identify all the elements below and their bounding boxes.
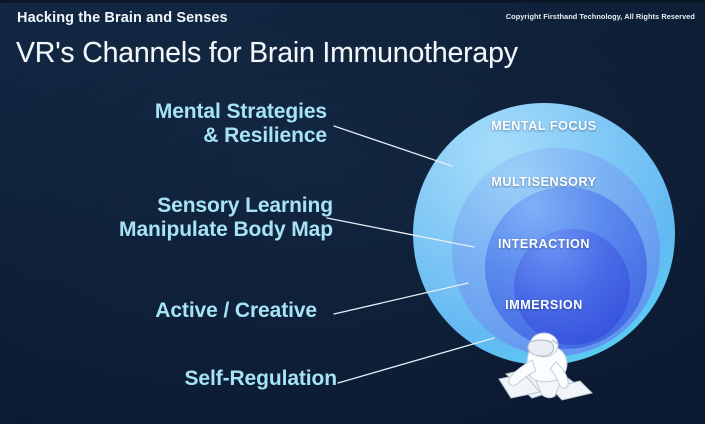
- channel-label-sensory-learning: Sensory Learning Manipulate Body Map: [119, 194, 333, 241]
- ring-label-multisensory: MULTISENSORY: [394, 175, 694, 189]
- ring-label-mental-focus: MENTAL FOCUS: [394, 119, 694, 133]
- channel-label-mental-strategies: Mental Strategies & Resilience: [155, 100, 327, 147]
- leader-line-immersion: [338, 338, 494, 383]
- channel-label-self-regulation: Self-Regulation: [184, 367, 337, 391]
- ring-label-immersion: IMMERSION: [394, 298, 694, 312]
- slide-canvas: Hacking the Brain and Senses Copyright F…: [0, 0, 705, 424]
- ring-label-interaction: INTERACTION: [394, 237, 694, 251]
- channel-label-active-creative: Active / Creative: [155, 299, 317, 323]
- vr-headset: [528, 340, 554, 356]
- concentric-circles-diagram: [0, 0, 705, 424]
